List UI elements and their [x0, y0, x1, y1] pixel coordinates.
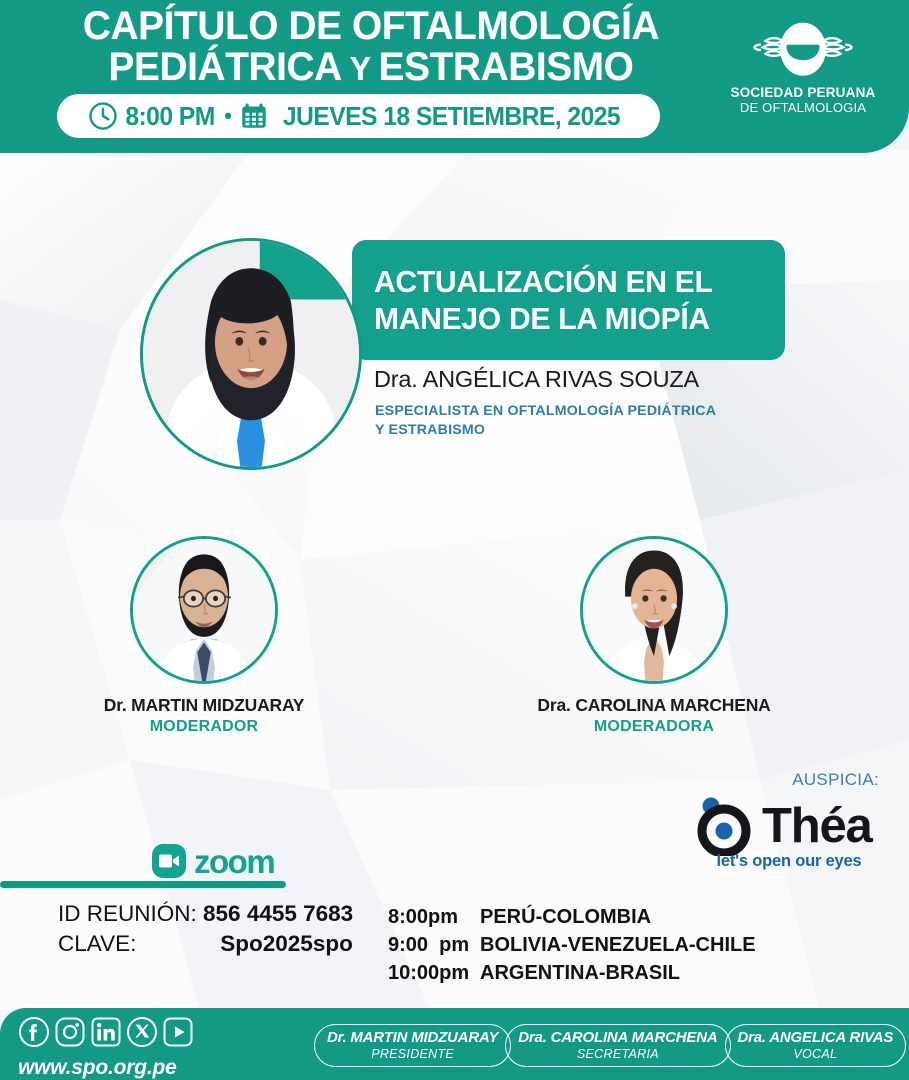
meeting-id-row: ID REUNIÓN: 856 4455 7683	[58, 899, 353, 929]
zoom-divider-rule	[0, 881, 286, 888]
officer-pill: Dr. MARTIN MIDZUARAY PRESIDENTE	[314, 1024, 511, 1067]
speaker-photo	[140, 238, 362, 470]
meeting-key-row: CLAVE: Spo2025spo	[58, 929, 353, 959]
meeting-details: ID REUNIÓN: 856 4455 7683 CLAVE: Spo2025…	[58, 899, 353, 959]
x-twitter-icon[interactable]	[126, 1016, 158, 1048]
title-line-2-conjunction: Y	[342, 50, 379, 87]
officer-pill: Dra. ANGELICA RIVAS VOCAL	[725, 1024, 907, 1067]
title-line-2-part-b: ESTRABISMO	[379, 45, 634, 89]
moderator-photo	[580, 536, 728, 684]
officer-role: VOCAL	[738, 1047, 894, 1061]
social-links	[18, 1016, 194, 1048]
speaker-specialty-line-2: Y ESTRABISMO	[375, 421, 795, 440]
page-title: CAPÍTULO DE OFTALMOLOGÍA PEDIÁTRICA Y ES…	[36, 6, 705, 89]
website-url[interactable]: www.spo.org.pe	[18, 1056, 177, 1080]
event-time: 8:00 PM	[125, 101, 214, 132]
linkedin-icon[interactable]	[90, 1016, 122, 1048]
org-name-line-2: DE OFTALMOLOGIA	[715, 100, 891, 115]
timezone-row: 8:00pm PERÚ-COLOMBIA	[388, 903, 756, 931]
thea-eye-logo-icon	[694, 796, 758, 856]
title-line-2-part-a: PEDIÁTRICA	[109, 45, 342, 89]
timezone-row: 10:00pm ARGENTINA-BRASIL	[388, 959, 756, 987]
moderator-role: MODERADORA	[504, 718, 804, 736]
org-name-line-1: SOCIEDAD PERUANA	[715, 85, 891, 100]
moderator-portrait-illustration	[583, 539, 725, 681]
timezone-list: 8:00pm PERÚ-COLOMBIA 9:00 pm BOLIVIA-VEN…	[388, 903, 756, 987]
timezone-regions: BOLIVIA-VENEZUELA-CHILE	[480, 931, 756, 959]
facebook-icon[interactable]	[18, 1016, 50, 1048]
youtube-icon[interactable]	[162, 1016, 194, 1048]
footer-bar: www.spo.org.pe Dr. MARTIN MIDZUARAY PRES…	[0, 1008, 909, 1080]
title-line-1: CAPÍTULO DE OFTALMOLOGÍA	[36, 6, 705, 47]
zoom-camera-icon	[152, 844, 186, 878]
moderator-card: Dr. MARTIN MIDZUARAY MODERADOR	[54, 536, 354, 736]
calendar-icon	[239, 101, 269, 131]
timezone-regions: PERÚ-COLOMBIA	[480, 903, 651, 931]
speaker-specialty-line-1: ESPECIALISTA EN OFTALMOLOGÍA PEDIÁTRICA	[375, 402, 795, 421]
moderator-role: MODERADOR	[54, 718, 354, 736]
instagram-icon[interactable]	[54, 1016, 86, 1048]
separator-dot: •	[224, 103, 232, 129]
meeting-key-value: Spo2025spo	[220, 931, 353, 956]
moderator-name: Dra. CAROLINA MARCHENA	[504, 695, 804, 716]
officer-role: PRESIDENTE	[327, 1047, 498, 1061]
zoom-logo: zoom	[152, 844, 274, 878]
meeting-id-label: ID REUNIÓN:	[58, 899, 197, 929]
moderator-card: Dra. CAROLINA MARCHENA MODERADORA	[504, 536, 804, 736]
speaker-portrait-illustration	[143, 241, 359, 467]
moderator-portrait-illustration	[133, 539, 275, 681]
talk-title-box: ACTUALIZACIÓN EN EL MANEJO DE LA MIOPÍA	[352, 240, 785, 360]
officer-name: Dra. ANGELICA RIVAS	[738, 1029, 894, 1046]
officer-pill: Dra. CAROLINA MARCHENA SECRETARIA	[505, 1024, 730, 1067]
speaker-specialty: ESPECIALISTA EN OFTALMOLOGÍA PEDIÁTRICA …	[375, 402, 795, 440]
officer-name: Dr. MARTIN MIDZUARAY	[327, 1029, 498, 1046]
organization-logo: SOCIEDAD PERUANA DE OFTALMOLOGIA	[715, 22, 891, 115]
header-banner: CAPÍTULO DE OFTALMOLOGÍA PEDIÁTRICA Y ES…	[0, 0, 909, 153]
sponsor-label: AUSPICIA:	[792, 770, 879, 790]
meeting-key-label: CLAVE:	[58, 929, 180, 959]
officers-list: Dr. MARTIN MIDZUARAY PRESIDENTE Dra. CAR…	[320, 1024, 906, 1067]
talk-title-line-1: ACTUALIZACIÓN EN EL	[374, 263, 773, 300]
timezone-regions: ARGENTINA-BRASIL	[480, 959, 680, 987]
timezone-row: 9:00 pm BOLIVIA-VENEZUELA-CHILE	[388, 931, 756, 959]
timezone-time: 9:00 pm	[388, 931, 480, 959]
spo-eye-logo-icon	[748, 22, 858, 80]
clock-icon	[88, 101, 118, 131]
sponsor-tagline: let's open our eyes	[694, 852, 884, 871]
zoom-wordmark: zoom	[194, 845, 274, 878]
moderator-name: Dr. MARTIN MIDZUARAY	[54, 695, 354, 716]
sponsor-logo: Théa let's open our eyes	[694, 796, 884, 871]
sponsor-brand: Théa	[762, 802, 872, 851]
timezone-time: 8:00pm	[388, 903, 480, 931]
moderator-photo	[130, 536, 278, 684]
officer-role: SECRETARIA	[518, 1047, 717, 1061]
speaker-name: Dra. ANGÉLICA RIVAS SOUZA	[374, 366, 699, 393]
title-line-2: PEDIÁTRICA Y ESTRABISMO	[36, 47, 705, 89]
talk-title-line-2: MANEJO DE LA MIOPÍA	[374, 300, 773, 337]
officer-name: Dra. CAROLINA MARCHENA	[518, 1029, 717, 1046]
event-date: JUEVES 18 SETIEMBRE, 2025	[283, 101, 620, 132]
meeting-id-value: 856 4455 7683	[203, 901, 353, 926]
date-time-pill: 8:00 PM • JUEVES 18 SETI	[57, 94, 660, 138]
timezone-time: 10:00pm	[388, 959, 480, 987]
